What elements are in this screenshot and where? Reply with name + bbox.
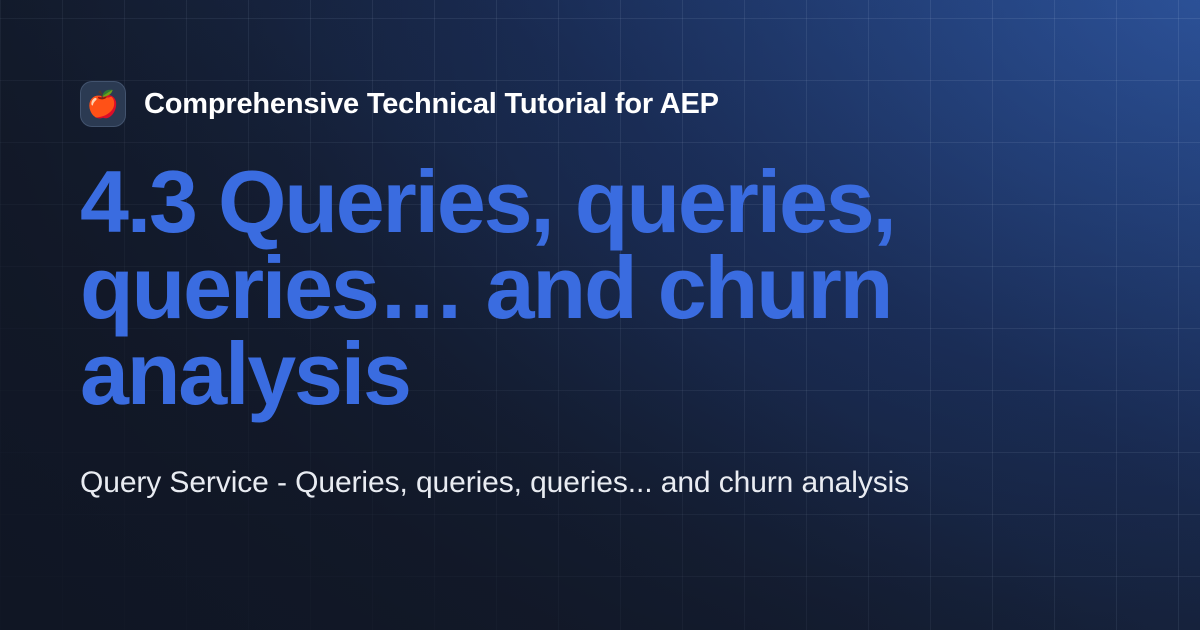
card-content: 🍎 Comprehensive Technical Tutorial for A… xyxy=(0,0,1200,630)
og-card: 🍎 Comprehensive Technical Tutorial for A… xyxy=(0,0,1200,630)
page-subtitle: Query Service - Queries, queries, querie… xyxy=(80,462,920,505)
header-title: Comprehensive Technical Tutorial for AEP xyxy=(144,88,719,121)
card-header: 🍎 Comprehensive Technical Tutorial for A… xyxy=(80,81,1120,127)
brand-icon-tile: 🍎 xyxy=(80,81,126,127)
apple-emoji-icon: 🍎 xyxy=(87,91,119,117)
page-title: 4.3 Queries, queries, queries… and churn… xyxy=(80,159,1040,418)
